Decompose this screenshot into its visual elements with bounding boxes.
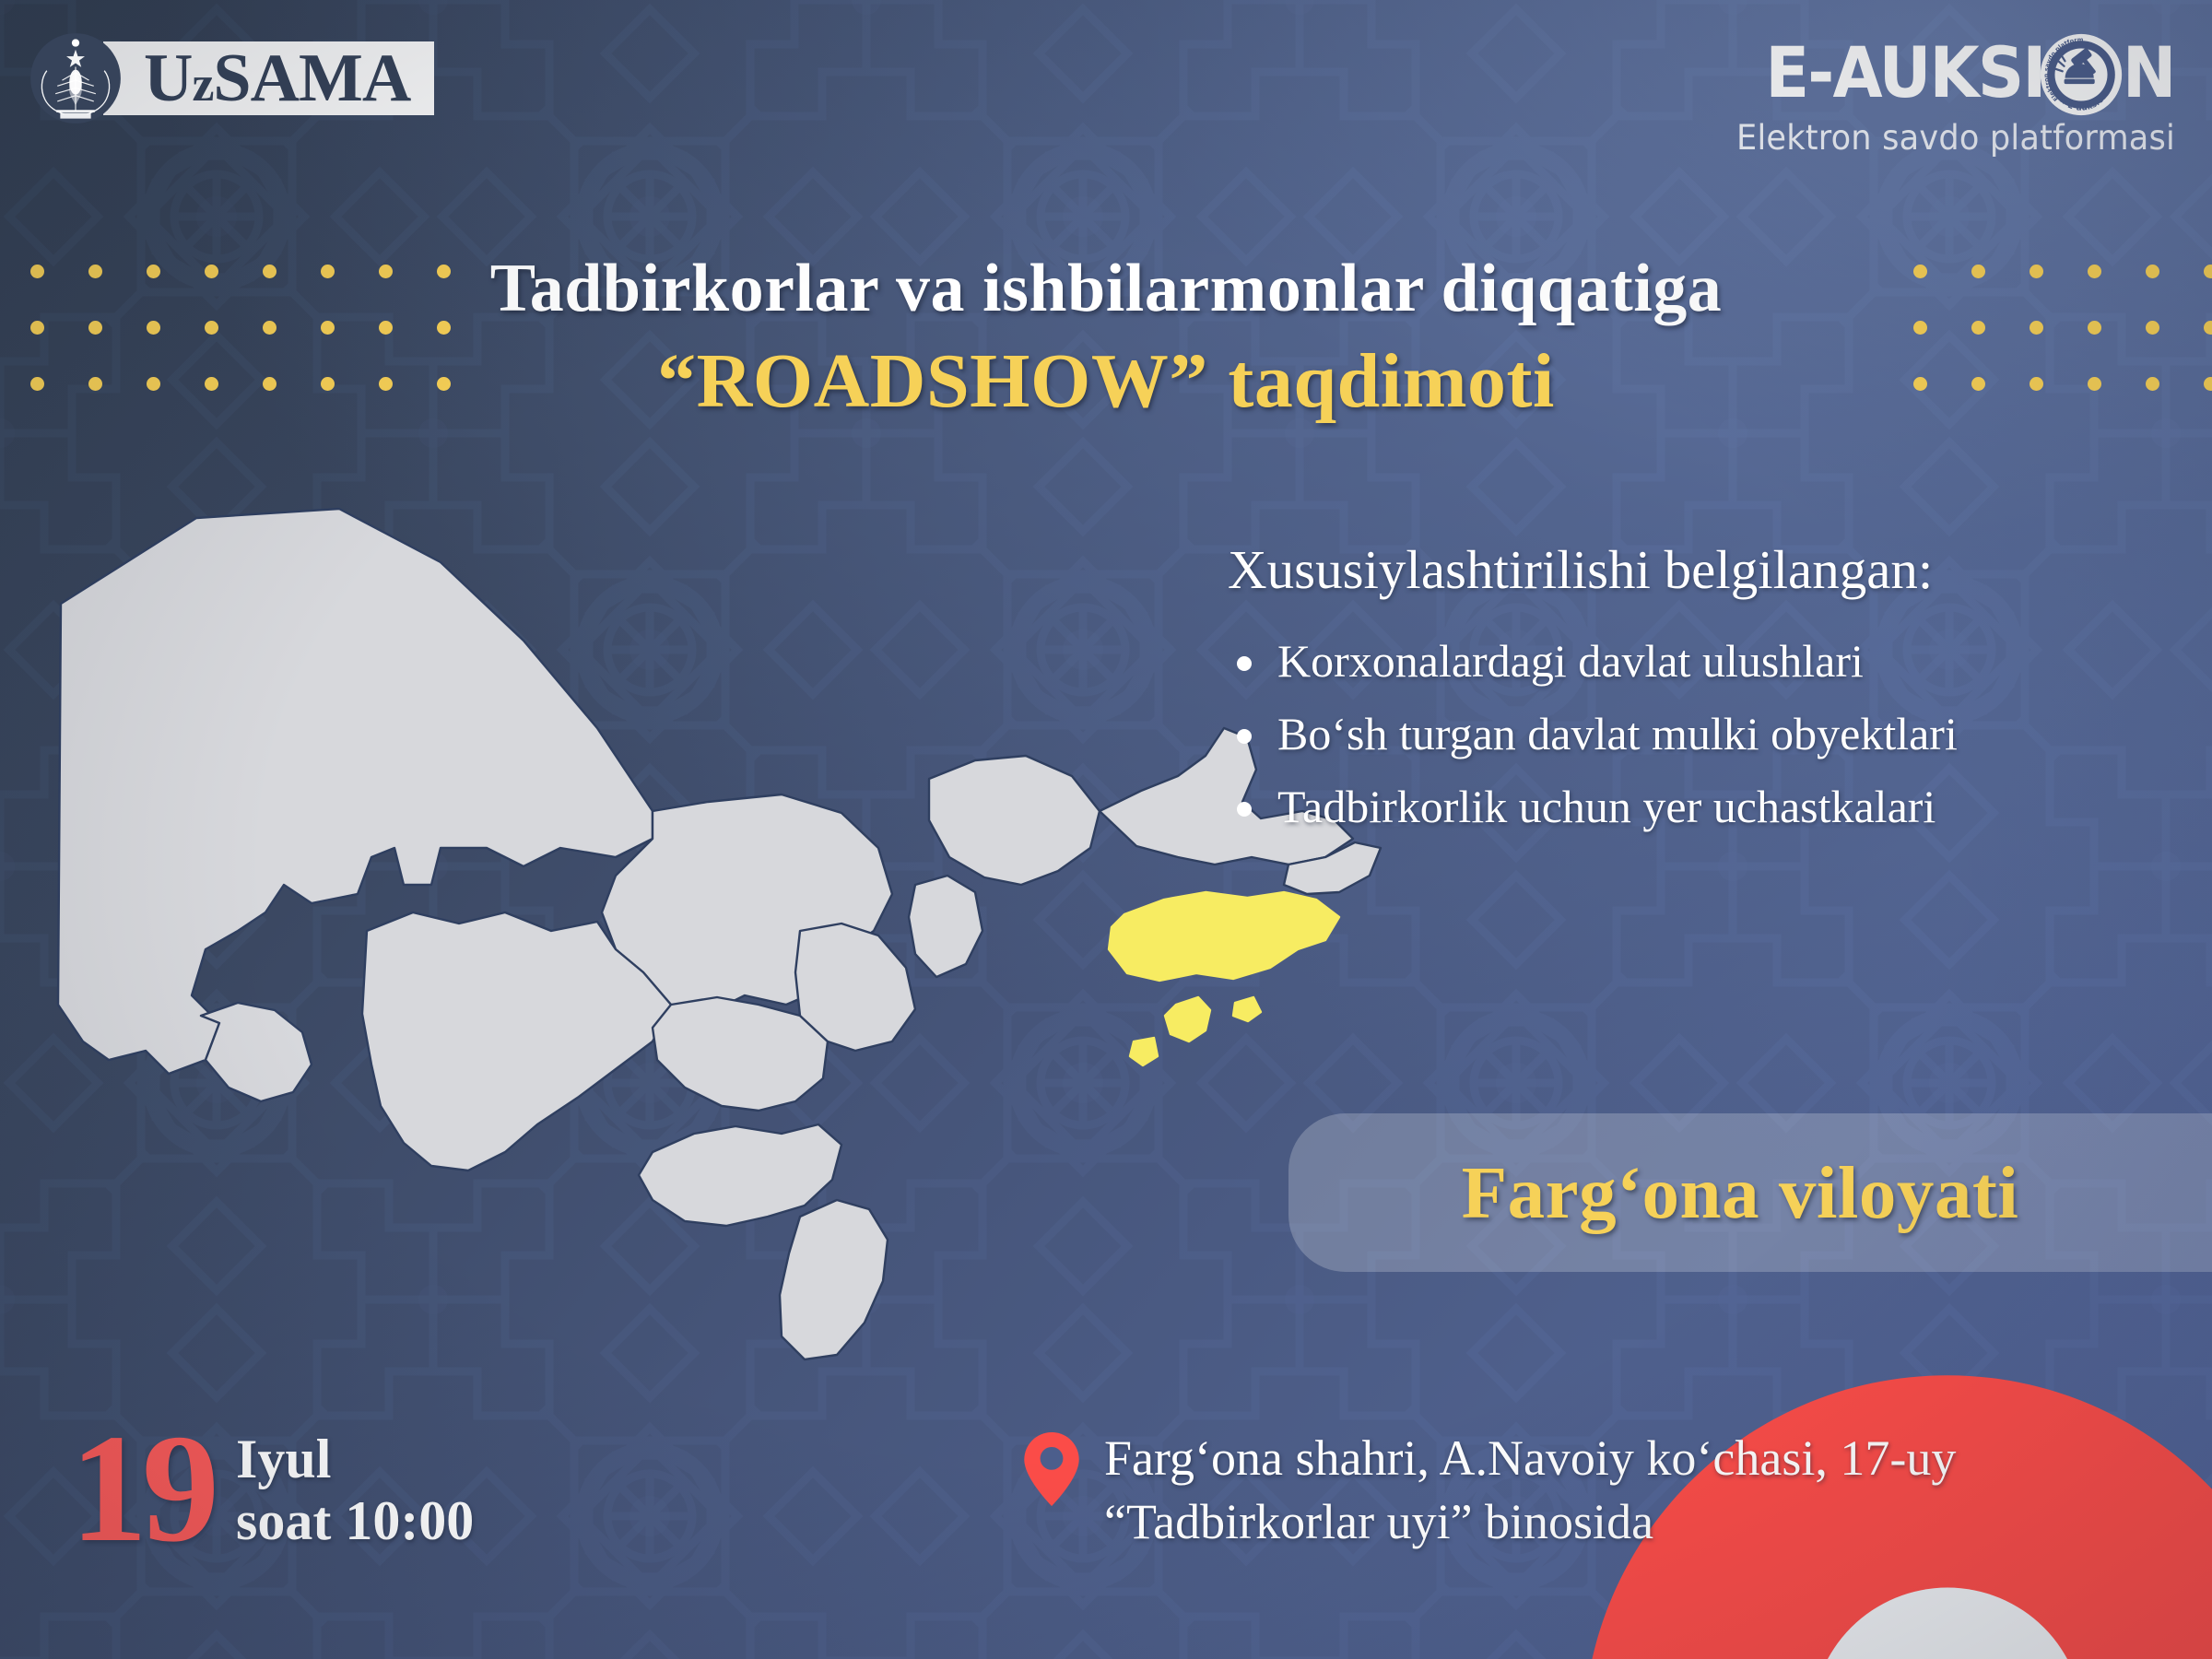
list-item: Bo‘sh turgan davlat mulki obyektlari — [1217, 703, 2194, 765]
venue-address-line2: “Tadbirkorlar uyi” binosida — [1104, 1490, 1956, 1554]
region-fergana-detail-3 — [1130, 1038, 1158, 1065]
region-fergana-highlighted — [1109, 892, 1339, 981]
e-auksion-tagline: Elektron savdo platformasi — [1736, 118, 2175, 158]
region-syrdarya — [909, 876, 982, 977]
uzsama-name-plate: UzSAMA — [103, 41, 434, 115]
uzsama-logo[interactable]: UzSAMA — [28, 33, 434, 124]
region-name-banner: Farg‘ona viloyati — [1288, 1113, 2212, 1272]
list-item: Tadbirkorlik uchun yer uchastkalari — [1217, 776, 2194, 838]
uzbekistan-state-emblem-icon — [28, 30, 124, 126]
event-month: Iyul — [236, 1429, 474, 1490]
region-tashkent — [929, 756, 1100, 885]
venue-address-line1: Farg‘ona shahri, A.Navoiy ko‘chasi, 17-u… — [1104, 1427, 1956, 1490]
event-time: soat 10:00 — [236, 1490, 474, 1552]
uzsama-wordmark: UzSAMA — [144, 44, 410, 112]
venue-address-block: Farg‘ona shahri, A.Navoiy ko‘chasi, 17-u… — [1023, 1427, 1956, 1554]
region-surkhandarya — [780, 1200, 888, 1359]
event-date-text: Iyul soat 10:00 — [236, 1418, 474, 1552]
region-name-label: Farg‘ona viloyati — [1462, 1156, 2019, 1230]
uzbekistan-map-svg — [7, 452, 1390, 1465]
headline-block: Tadbirkorlar va ishbilarmonlar diqqatiga… — [0, 254, 2212, 420]
event-date-block: 19 Iyul soat 10:00 — [70, 1418, 474, 1560]
uzbekistan-map — [7, 452, 1390, 1465]
headline-line2: “ROADSHOW” taqdimoti — [0, 343, 2212, 420]
headline-line1: Tadbirkorlar va ishbilarmonlar diqqatiga — [0, 254, 2212, 323]
e-auksion-wordmark-row: E-AUKSI Elektron savdo platformasi — [1713, 33, 2175, 112]
info-heading: Xususiylashtirilishi belgilangan: — [1228, 542, 2194, 599]
poster-canvas: UzSAMA E-AUKSI — [0, 0, 2212, 1659]
map-pin-icon — [1023, 1430, 1080, 1508]
e-auksion-wordmark-part1: E-AUKSI — [1765, 38, 2044, 108]
gavel-seal-icon: Elektron savdo platformasi ★ E-auksion ★ — [2039, 32, 2124, 117]
e-auksion-logo[interactable]: E-AUKSI Elektron savdo platformasi — [1713, 33, 2175, 158]
region-fergana-detail-2 — [1233, 997, 1261, 1021]
list-item: Korxonalardagi davlat ulushlari — [1217, 630, 2194, 692]
event-day-number: 19 — [70, 1418, 214, 1560]
e-auksion-wordmark-part2: N — [2123, 38, 2175, 108]
venue-address-text: Farg‘ona shahri, A.Navoiy ko‘chasi, 17-u… — [1104, 1427, 1956, 1554]
region-fergana-detail-1 — [1165, 997, 1210, 1041]
region-khorezm — [201, 1003, 312, 1101]
privatization-info-block: Xususiylashtirilishi belgilangan: Korxon… — [1217, 542, 2194, 849]
info-list: Korxonalardagi davlat ulushlari Bo‘sh tu… — [1217, 630, 2194, 838]
